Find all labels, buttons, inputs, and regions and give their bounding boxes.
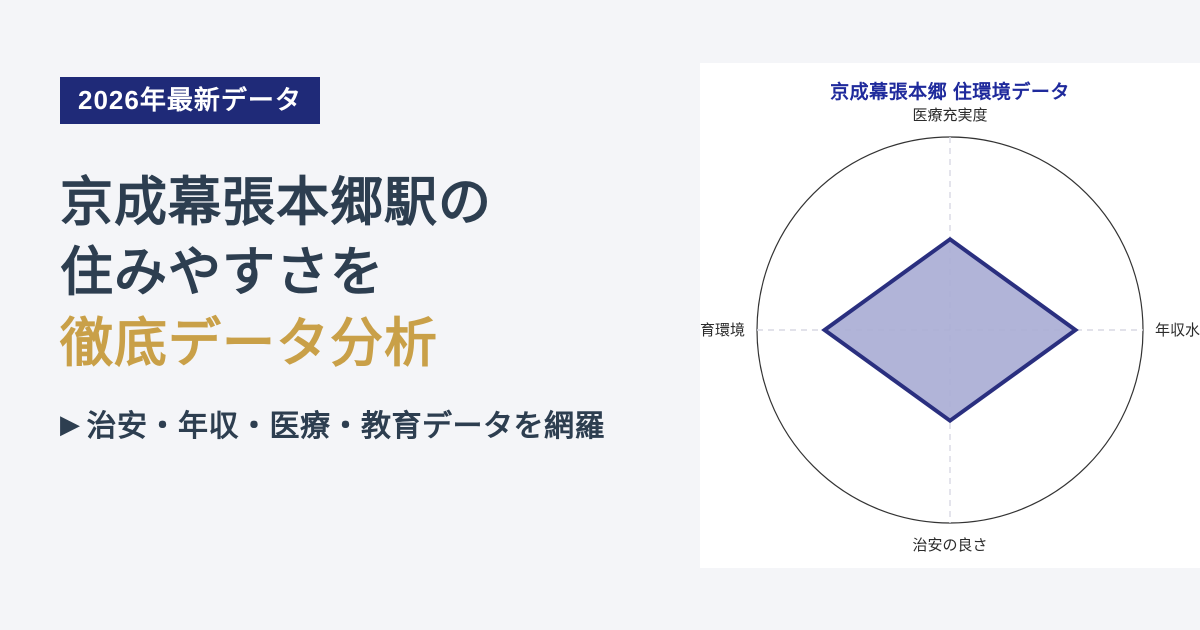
axis-label-bottom: 治安の良さ xyxy=(912,537,987,554)
axis-label-top: 医療充実度 xyxy=(912,107,987,124)
triangle-right-icon: ▶ xyxy=(60,411,81,437)
axis-label-left: 教育環境 xyxy=(700,321,745,339)
headline-line-2: 住みやすさを xyxy=(60,238,700,308)
axis-label-right: 年収水準 xyxy=(1155,322,1200,339)
left-content-column: 2026年最新データ 京成幕張本郷駅の 住みやすさを 徹底データ分析 ▶ 治安・… xyxy=(0,0,700,630)
headline-line-3-accent: 徹底データ分析 xyxy=(60,309,700,379)
radar-chart: 医療充実度 年収水準 治安の良さ 教育環境 xyxy=(700,63,1200,568)
radar-data-polygon xyxy=(825,239,1076,420)
page-title: 京成幕張本郷駅の 住みやすさを 徹底データ分析 xyxy=(60,168,700,379)
radar-chart-panel: 京成幕張本郷 住環境データ 医療充実度 年収水準 治安の良さ 教育環境 xyxy=(700,63,1200,568)
subtitle-label: 治安・年収・医療・教育データを網羅 xyxy=(87,401,606,445)
headline-line-1: 京成幕張本郷駅の xyxy=(60,168,700,238)
subtitle: ▶ 治安・年収・医療・教育データを網羅 xyxy=(60,401,700,445)
date-badge: 2026年最新データ xyxy=(60,77,320,124)
